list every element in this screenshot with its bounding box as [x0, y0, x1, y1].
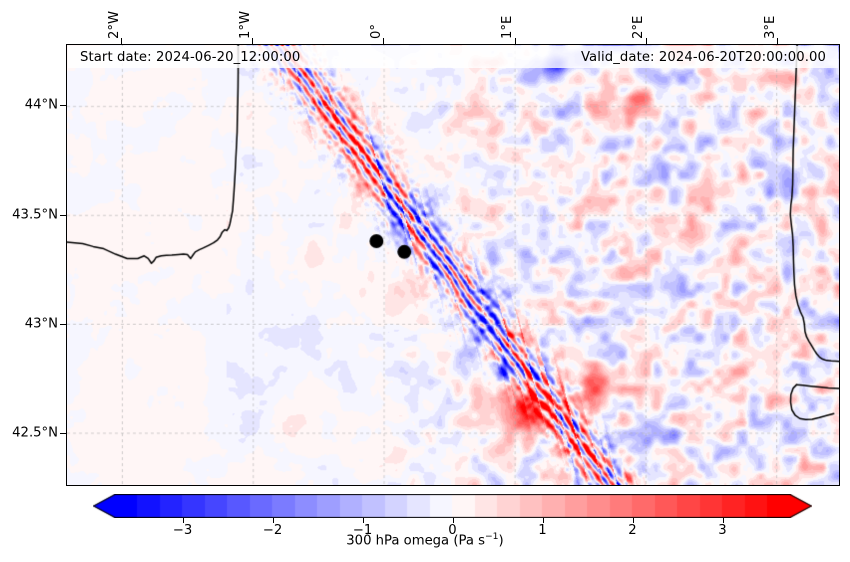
- figure-canvas: 2°W1°W0°1°E2°E3°E 44°N43.5°N43°N42.5°N S…: [0, 0, 850, 562]
- colorbar[interactable]: [93, 494, 812, 518]
- x-tick-label: 3°E: [763, 16, 778, 39]
- y-tick-label-2: 43°N: [0, 317, 58, 332]
- x-tick-2: 0°: [383, 0, 384, 41]
- x-tick-label: 2°E: [631, 16, 646, 39]
- x-tick-1: 1°W: [252, 0, 253, 41]
- x-tick-3: 1°E: [515, 0, 516, 41]
- colorbar-label-main: 300 hPa omega (Pa s: [346, 533, 485, 548]
- x-tick-5: 3°E: [777, 0, 778, 41]
- colorbar-label-tail: ): [499, 533, 504, 548]
- omega-field-heatmap: [67, 45, 839, 485]
- x-tick-label: 2°W: [107, 11, 122, 39]
- colorbar-gradient: [93, 494, 812, 518]
- x-tick-label: 1°E: [500, 16, 515, 39]
- colorbar-axis-label: 300 hPa omega (Pa s−1): [0, 531, 850, 548]
- x-tick-label: 0°: [369, 24, 384, 39]
- x-tick-label: 1°W: [238, 11, 253, 39]
- x-tick-4: 2°E: [646, 0, 647, 41]
- y-tick-label-0: 44°N: [0, 98, 58, 113]
- x-tick-0: 2°W: [121, 0, 122, 41]
- map-plot-area[interactable]: Start date: 2024-06-20_12:00:00 Valid_da…: [66, 44, 840, 486]
- colorbar-label-exponent: −1: [485, 531, 499, 542]
- y-tick-label-3: 42.5°N: [0, 426, 58, 441]
- y-tick-label-1: 43.5°N: [0, 207, 58, 222]
